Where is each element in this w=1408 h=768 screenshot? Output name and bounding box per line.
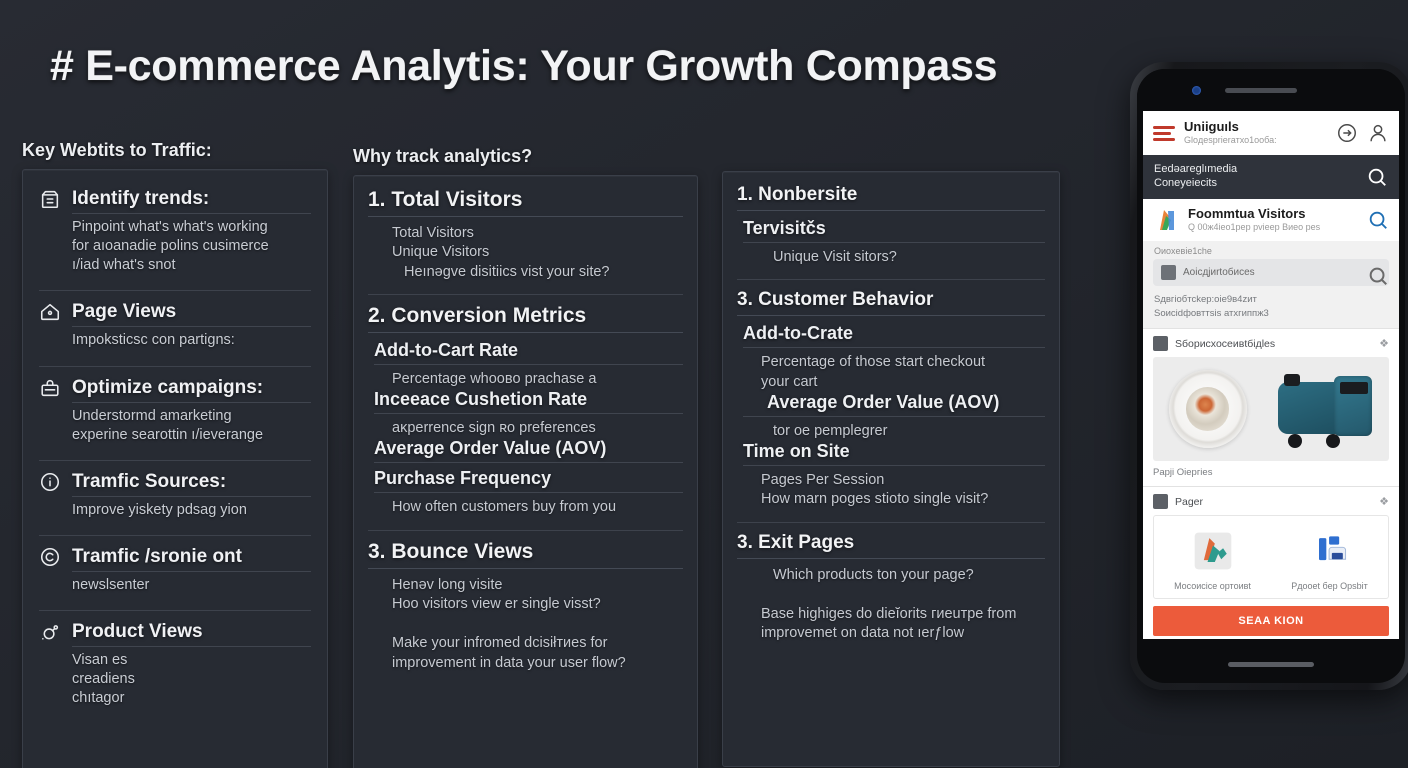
description-line: ı/iad what's snot: [72, 256, 311, 275]
description-line: Improve yiskety pdsag yion: [72, 501, 311, 520]
divider: [72, 496, 311, 497]
divider: [737, 315, 1045, 316]
left-item-description: Impoksticsс con partigns:: [72, 331, 311, 350]
left-item-description: Visan escreadienschıtagor: [72, 651, 311, 708]
left-item-3[interactable]: Optimize campaigns:Understormd amarketin…: [39, 366, 311, 449]
divider: [72, 326, 311, 327]
app-bar-title: Uniiguıls: [1184, 120, 1327, 134]
left-item-title: Tramfic /ѕronie ont: [72, 546, 242, 568]
dark-bar-text: Eedəareglımedia Conеyеiесits: [1154, 163, 1358, 191]
pager-card-header: Pager ❖: [1153, 494, 1389, 509]
earpiece-speaker: [1225, 88, 1297, 93]
text-lines: Sдвгiобтсkер:оіе9в4zит Sоиcidфовттsis ат…: [1143, 293, 1399, 329]
left-item-description: Improve yiskety pdsag yion: [72, 501, 311, 520]
column-right: 1. NonbersiteTervisitčsUnique Visit sito…: [722, 171, 1060, 767]
right-section-3: 3. Exit PagesWhich products ton your pag…: [737, 522, 1045, 644]
middle-section-1: 1. Total VisitorsTotal VisitorsUnique Vi…: [368, 188, 683, 282]
cta-button[interactable]: SEAA KION: [1153, 606, 1389, 636]
tile-1-caption: Mосоисice ортоивt: [1158, 581, 1267, 591]
tile-2-image: [1275, 525, 1384, 577]
left-panel: Identify trends:Pinpoint what's what's w…: [22, 169, 328, 768]
app-bar: Uniiguıls Gloдesprіerатхо1ooба:: [1143, 111, 1399, 155]
metric-description: Pages Per Session: [761, 471, 1045, 490]
slide-root: # E-commerce Analytis: Your Growth Compa…: [0, 0, 1408, 768]
pager-icon: [1153, 494, 1168, 509]
phone-notch: [1137, 69, 1405, 111]
metric-description: Heınəgve disitiics vist your site?: [404, 263, 683, 282]
column-left-heading: Key Webtits to Traffic:: [22, 140, 328, 161]
phone-screen-frame: Uniiguıls Gloдesprіerатхо1ooба:: [1137, 69, 1405, 683]
pager-card: Pager ❖: [1143, 486, 1399, 639]
home-indicator: [1228, 662, 1314, 667]
description-line: experine searottin ı/iеverange: [72, 426, 311, 445]
product-card-title: Sбоpиcхосеивtбiдles: [1175, 338, 1366, 350]
metric-label: Average Order Value (AOV): [374, 438, 683, 459]
metric-label: Add-to-Crate: [743, 323, 1045, 344]
description-line: for aıoanadie polins cusimerce: [72, 237, 311, 256]
divider: [743, 416, 1045, 417]
product-thumbnails[interactable]: [1153, 357, 1389, 461]
metric-label: Inceeace Cushetion Rate: [374, 389, 683, 410]
left-item-header: Tramfic Sources:: [39, 471, 311, 493]
divider: [72, 402, 311, 403]
product-card-header: Sбоpиcхосеивtбiдles ❖: [1153, 336, 1389, 351]
metric-description: Make your infromed dсisiłтиеs for: [392, 634, 683, 653]
metric-description: aκperrence sign ʀo preferences: [392, 419, 683, 438]
metric-description: Percentage whooʙo prachase a: [392, 370, 683, 389]
left-item-title: Optimize campaigns:: [72, 377, 263, 399]
calendar-icon: [39, 188, 61, 210]
divider: [368, 216, 683, 217]
metric-description: improvemet on data not ıerƒlow: [761, 624, 1045, 643]
account-icon[interactable]: [1367, 122, 1389, 144]
divider: [374, 364, 683, 365]
right-section-2: 3. Customer BehaviorAdd-to-CratePercenta…: [737, 279, 1045, 509]
expand-icon[interactable]: ❖: [1373, 337, 1389, 350]
description-line: Understormd amarketing: [72, 407, 311, 426]
divider: [72, 571, 311, 572]
plate-product-image: [1169, 370, 1247, 448]
search-input-text: Aоiсдjиrtобиces: [1183, 267, 1360, 278]
metric-description: Hoo visitors view er single visst?: [392, 595, 683, 614]
app-bar-subtitle: Gloдesprіerатхо1ooба:: [1184, 135, 1327, 146]
metric-label: Average Order Value (AOV): [767, 392, 1045, 413]
left-item-4[interactable]: Tramfic Sources:Improve yiskety pdsag yi…: [39, 460, 311, 524]
product-card-footer: Pарji Oіеpгies: [1153, 467, 1389, 478]
left-item-title: Product Views: [72, 621, 203, 643]
divider: [374, 462, 683, 463]
metric-description: How often customers buy from you: [392, 498, 683, 517]
app-badge-icon: [1161, 265, 1176, 280]
section-title: 3. Customer Behavior: [737, 289, 1045, 311]
dark-bar-line2: Conеyеiесits: [1154, 177, 1358, 191]
phone-screen: Uniiguıls Gloдesprіerатхо1ooба:: [1143, 111, 1399, 639]
left-item-description: Pinpoint what's what's workingfor aıoana…: [72, 218, 311, 275]
left-item-header: Product Views: [39, 621, 311, 643]
section-title: 3. Bounce Views: [368, 540, 683, 564]
middle-section-3: 3. Bounce ViewsHenəv long visiteHoo visi…: [368, 530, 683, 673]
section-title: 1. Nonbersite: [737, 184, 1045, 206]
product-card: Sбоpиcхосеивtбiдles ❖ Pарji Oіеpгies: [1143, 328, 1399, 486]
metric-label: Time on Site: [743, 441, 1045, 462]
description-line: newslsenter: [72, 576, 311, 595]
left-item-header: Tramfic /ѕronie ont: [39, 546, 311, 568]
left-item-title: Page Views: [72, 301, 176, 323]
expand-icon[interactable]: ❖: [1373, 495, 1389, 508]
left-item-title: Tramfic Sources:: [72, 471, 226, 493]
divider: [743, 465, 1045, 466]
description-line: chıtagor: [72, 689, 311, 708]
gear-icon: [39, 621, 61, 643]
description-line: Pinpoint what's what's working: [72, 218, 311, 237]
left-item-title: Identify trends:: [72, 188, 209, 210]
middle-section-2: 2. Conversion MetricsAdd-to-Cart RatePer…: [368, 294, 683, 518]
metric-description: Unique Visitors: [392, 243, 683, 262]
column-middle: Why track analytics? 1. Total VisitorsTo…: [353, 146, 698, 768]
metric-label: Add-to-Cart Rate: [374, 340, 683, 361]
front-camera-icon: [1192, 86, 1201, 95]
divider: [737, 210, 1045, 211]
left-item-5[interactable]: Tramfic /ѕronie ontnewslsenter: [39, 535, 311, 599]
bag-product-image: [1278, 374, 1374, 444]
left-item-description: newslsenter: [72, 576, 311, 595]
section-title: 3. Exit Pages: [737, 532, 1045, 554]
visitors-bar-subtitle: Q 00ж4ieo1рeр рviеeр Виеo pes: [1188, 222, 1358, 233]
divider: [743, 347, 1045, 348]
tile-2[interactable]: Pдоoet бер Oрѕbіт: [1271, 516, 1388, 598]
hamburger-icon[interactable]: [1153, 123, 1175, 144]
divider: [72, 213, 311, 214]
divider: [743, 242, 1045, 243]
store-icon: [1153, 336, 1168, 351]
phone-mockup: Uniiguıls Gloдesprіerатхо1ooба:: [1130, 62, 1408, 690]
briefcase-lock-icon: [39, 377, 61, 399]
search-icon[interactable]: [1366, 166, 1388, 188]
left-item-1[interactable]: Identify trends:Pinpoint what's what's w…: [39, 188, 311, 279]
metric-description: improvement in data your user flow?: [392, 654, 683, 673]
divider: [374, 413, 683, 414]
search-icon[interactable]: [1367, 265, 1381, 279]
search-input-row[interactable]: Aоiсдjиrtобиces: [1153, 259, 1389, 286]
metric-description: Base highiges do dieĭorits гиеuтре from: [761, 605, 1045, 624]
divider: [374, 492, 683, 493]
section-title: 1. Total Visitors: [368, 188, 683, 212]
description-line: Impoksticsс con partigns:: [72, 331, 311, 350]
info-circle-icon: [39, 471, 61, 493]
dark-bar-line1: Eedəareglımedia: [1154, 163, 1358, 177]
description-line: creadiens: [72, 670, 311, 689]
description-line: Visan es: [72, 651, 311, 670]
pager-card-title: Pager: [1175, 496, 1366, 508]
metric-label: Tervisitčs: [743, 218, 1045, 239]
right-section-1: 1. NonbersiteTervisitčsUnique Visit sito…: [737, 184, 1045, 267]
app-bar-text: Uniiguıls Gloдesprіerатхо1ooба:: [1184, 120, 1327, 146]
metric-description: How marn poges stioto single visit?: [761, 490, 1045, 509]
metric-description: your cart: [761, 373, 1045, 392]
column-middle-heading: Why track analytics?: [353, 146, 698, 167]
pager-tiles: Mосоисice ортоивt Pд: [1153, 515, 1389, 599]
left-item-description: Understormd amarketingexperine searottin…: [72, 407, 311, 445]
tile-1-image: [1158, 525, 1267, 577]
spacer: [368, 614, 683, 634]
metric-description: Unique Visit sitors?: [773, 248, 1045, 267]
visitors-bar[interactable]: Fоommtua Visitors Q 00ж4ieo1рeр рviеeр В…: [1143, 199, 1399, 241]
metric-description: Total Visitors: [392, 224, 683, 243]
left-item-header: Optimize campaigns:: [39, 377, 311, 399]
divider: [368, 332, 683, 333]
metric-description: Percentage of those start checkout: [761, 353, 1045, 372]
left-item-2[interactable]: Page ViewsImpoksticsс con partigns:: [39, 290, 311, 354]
metric-label: Purchase Frequency: [374, 468, 683, 489]
right-panel: 1. NonbersiteTervisitčsUnique Visit sito…: [722, 171, 1060, 767]
refresh-circle-icon[interactable]: [1336, 122, 1358, 144]
metric-description: tor oe pemplegrеr: [773, 422, 1045, 441]
left-item-header: Page Views: [39, 301, 311, 323]
tile-2-caption: Pдоoet бер Oрѕbіт: [1275, 581, 1384, 591]
text-line-2: Sоиcidфовттsis атхгиппж3: [1154, 307, 1388, 321]
section-title: 2. Conversion Metrics: [368, 304, 683, 328]
visitors-bar-title: Fоommtua Visitors: [1188, 207, 1358, 221]
search-icon[interactable]: [1367, 209, 1389, 231]
divider: [72, 646, 311, 647]
copyright-circle-icon: [39, 546, 61, 568]
section-label: Oиоxеʙіе1сhe: [1143, 241, 1399, 259]
page-title: # E-commerce Analytis: Your Growth Compa…: [50, 42, 997, 91]
divider: [368, 568, 683, 569]
column-left: Key Webtits to Traffic: Identify trends:…: [22, 140, 328, 768]
home-icon: [39, 301, 61, 323]
divider: [737, 558, 1045, 559]
spacer: [737, 585, 1045, 605]
text-line-1: Sдвгiобтсkер:оіе9в4zит: [1154, 293, 1388, 307]
metric-description: Which products ton your page?: [773, 566, 1045, 585]
left-item-header: Identify trends:: [39, 188, 311, 210]
left-item-6[interactable]: Product ViewsVisan escreadienschıtagor: [39, 610, 311, 712]
metric-description: Henəv long visite: [392, 576, 683, 595]
dark-search-bar[interactable]: Eedəareglımedia Conеyеiесits: [1143, 155, 1399, 199]
tile-1[interactable]: Mосоисice ортоивt: [1154, 516, 1271, 598]
middle-panel: 1. Total VisitorsTotal VisitorsUnique Vi…: [353, 175, 698, 768]
analytics-logo: [1153, 207, 1179, 233]
visitors-bar-text: Fоommtua Visitors Q 00ж4ieo1рeр рviеeр В…: [1188, 207, 1358, 233]
